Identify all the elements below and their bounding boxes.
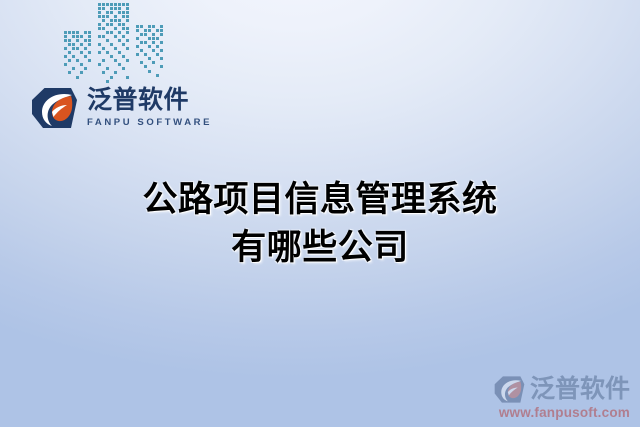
fanpu-brand-lockup: 泛普软件 FANPU SOFTWARE (31, 86, 212, 130)
page-title-line-2: 有哪些公司 (0, 224, 640, 272)
brand-name-en: FANPU SOFTWARE (87, 117, 212, 128)
fanpu-logo-mark (31, 86, 78, 130)
pixel-buildings-graphic (62, 0, 174, 86)
page-title-line-1: 公路项目信息管理系统 (0, 176, 640, 224)
fanpu-watermark-mark (494, 375, 525, 404)
watermark-brand-row: 泛普软件 (464, 375, 630, 404)
watermark-brand-name: 泛普软件 (530, 377, 630, 402)
slide-canvas: 泛普软件 FANPU SOFTWARE 公路项目信息管理系统 有哪些公司 泛普软… (0, 0, 640, 427)
page-title: 公路项目信息管理系统 有哪些公司 (0, 176, 640, 272)
watermark: 泛普软件 www.fanpusoft.com (464, 375, 630, 420)
brand-text-block: 泛普软件 FANPU SOFTWARE (87, 88, 212, 128)
watermark-url: www.fanpusoft.com (464, 405, 630, 420)
brand-name-cn: 泛普软件 (87, 88, 212, 114)
